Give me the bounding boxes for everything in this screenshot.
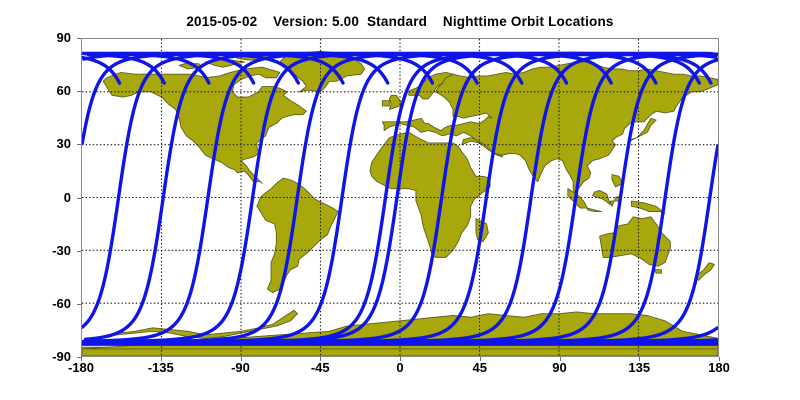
ytick-label-90: 90 bbox=[31, 30, 71, 45]
xtick-label-neg90: -90 bbox=[211, 360, 271, 375]
ytick-mark bbox=[77, 304, 81, 305]
xtick-label-neg180: -180 bbox=[51, 360, 111, 375]
xtick-label-0: 0 bbox=[370, 360, 430, 375]
xtick-label-neg135: -135 bbox=[131, 360, 191, 375]
ytick-mark bbox=[77, 198, 81, 199]
ytick-mark bbox=[77, 144, 81, 145]
page-title: 2015-05-02 Version: 5.00 Standard Nightt… bbox=[0, 14, 800, 29]
xtick-label-neg45: -45 bbox=[290, 360, 350, 375]
xtick-label-90: 90 bbox=[530, 360, 590, 375]
ytick-label-neg30: -30 bbox=[31, 243, 71, 258]
xtick-label-45: 45 bbox=[450, 360, 510, 375]
plot-area bbox=[81, 38, 719, 357]
ytick-label-60: 60 bbox=[31, 83, 71, 98]
world-map-svg bbox=[82, 39, 718, 356]
ytick-mark bbox=[77, 251, 81, 252]
ytick-mark bbox=[77, 38, 81, 39]
ytick-mark bbox=[77, 91, 81, 92]
xtick-label-135: 135 bbox=[609, 360, 669, 375]
orbit-plot-window: 2015-05-02 Version: 5.00 Standard Nightt… bbox=[0, 0, 800, 400]
xtick-label-180: 180 bbox=[689, 360, 749, 375]
ytick-label-neg60: -60 bbox=[31, 296, 71, 311]
ytick-label-0: 0 bbox=[31, 190, 71, 205]
ytick-label-30: 30 bbox=[31, 136, 71, 151]
